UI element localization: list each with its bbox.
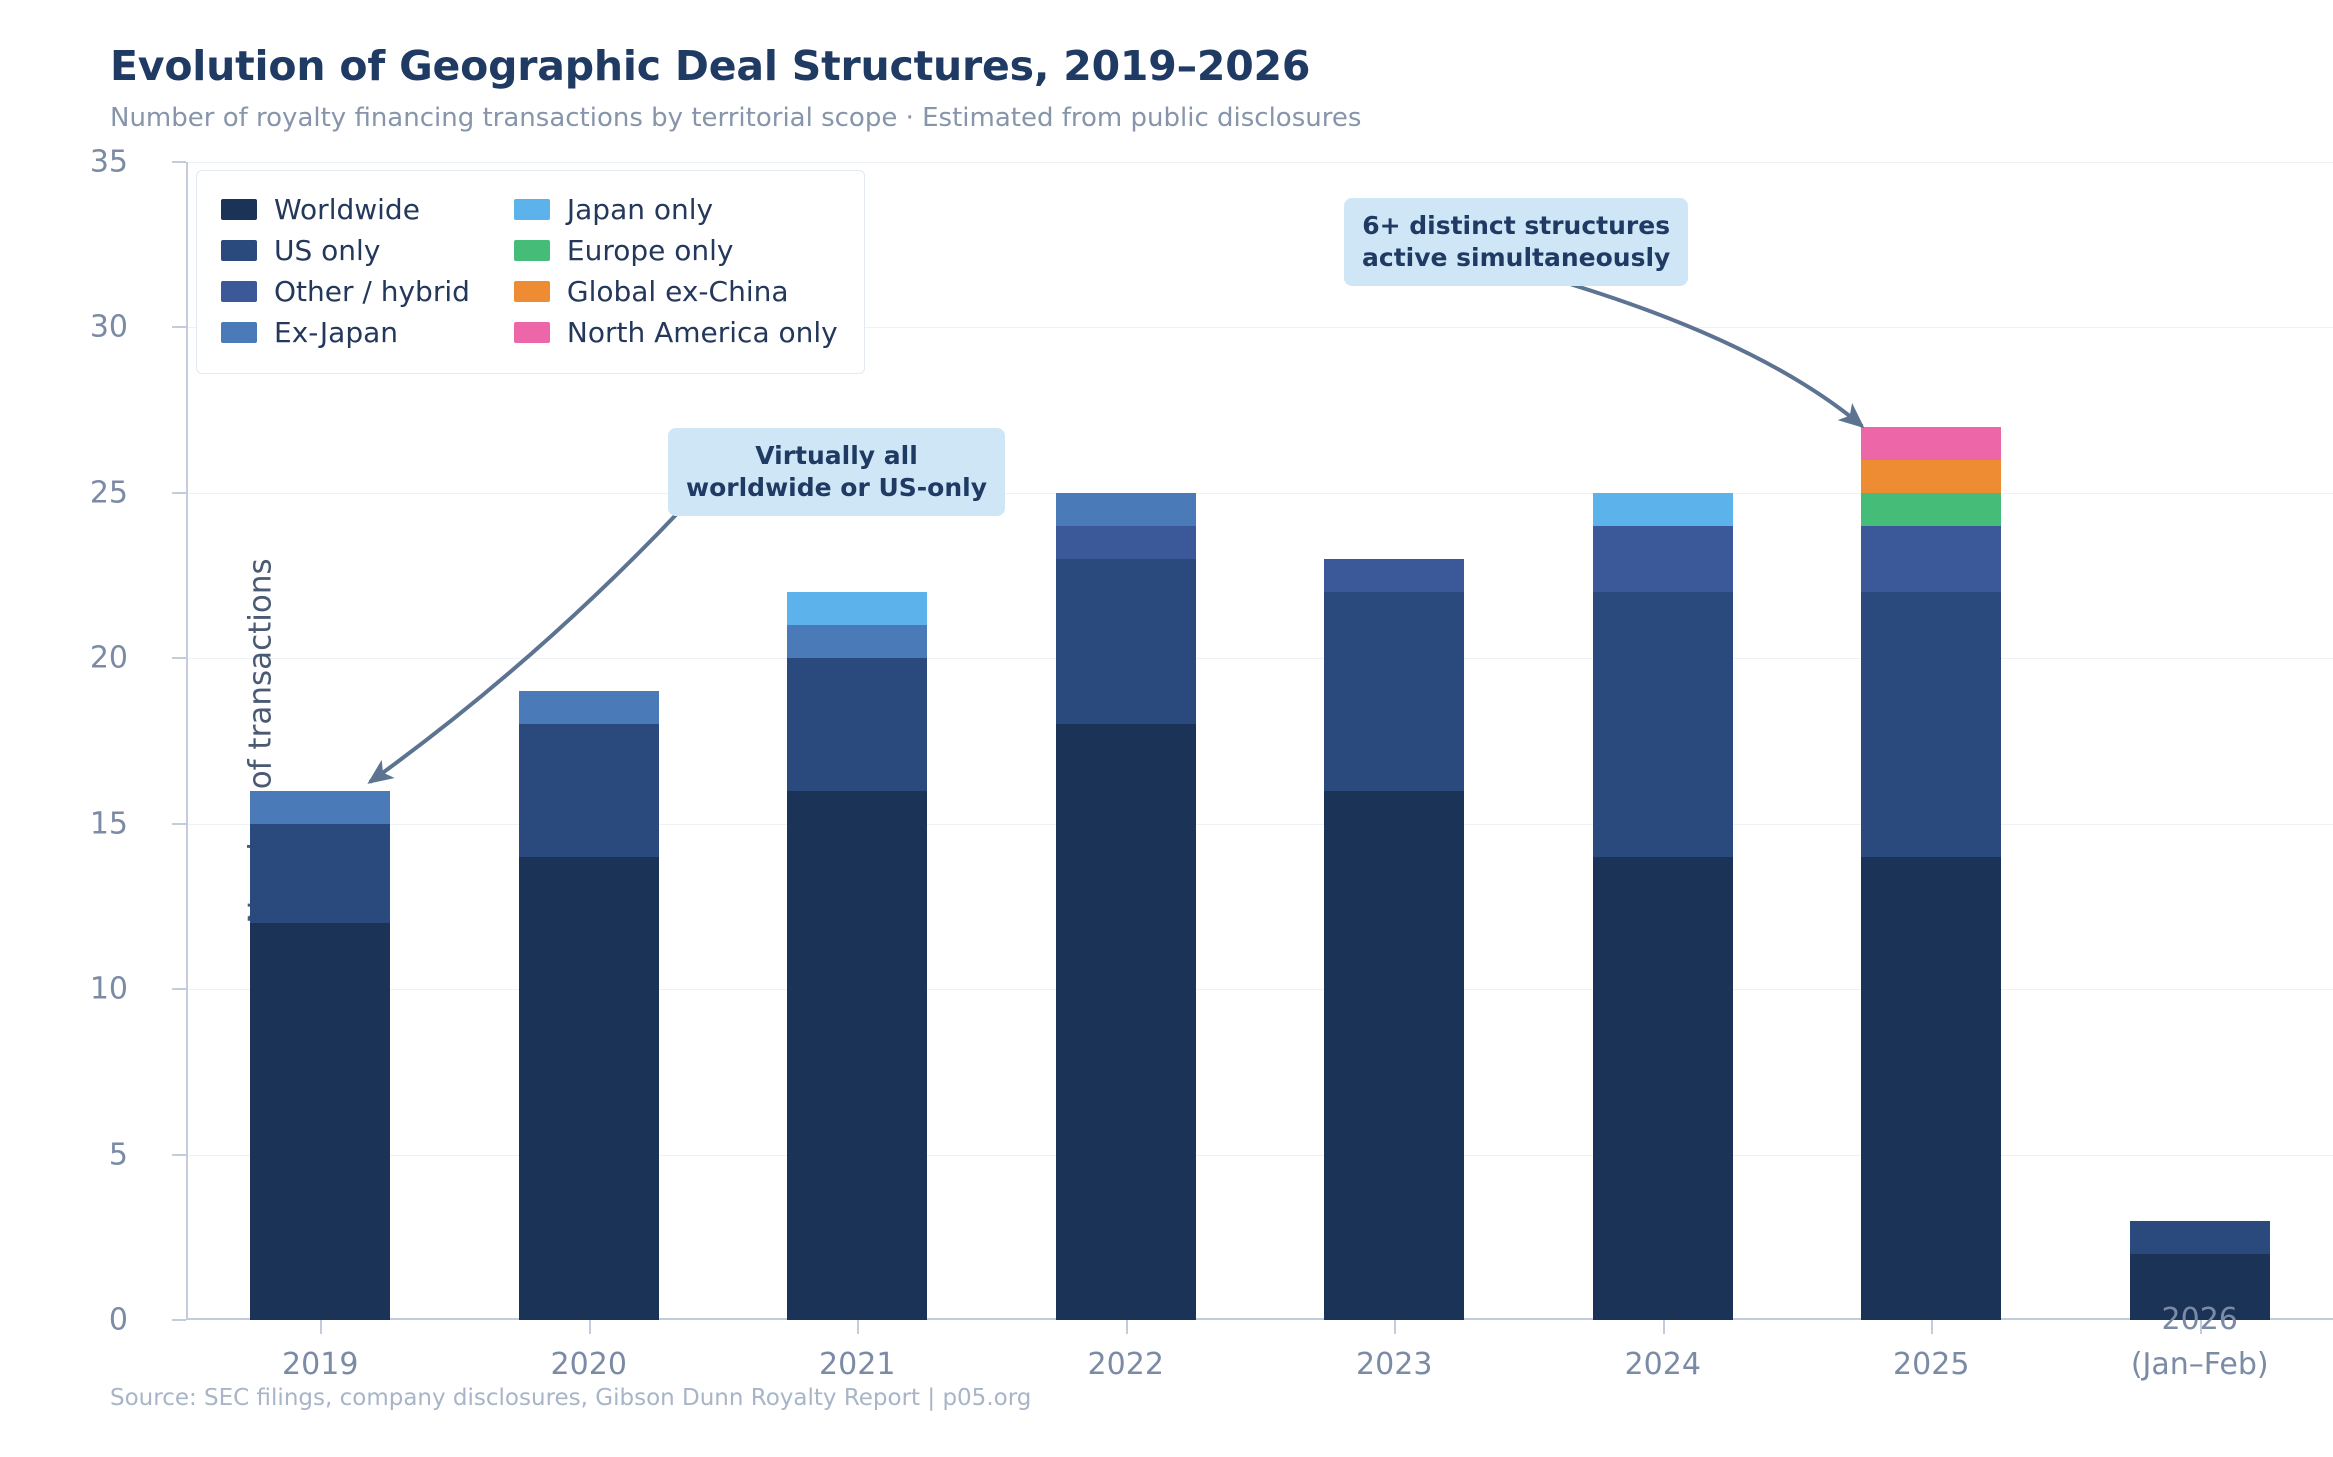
bar-group-2024[interactable]: 2024: [1593, 162, 1733, 1320]
annotation-callout-2025: 6+ distinct structures active simultaneo…: [1344, 198, 1688, 286]
bar-segment[interactable]: [1056, 559, 1196, 724]
x-axis-tick-label: 2022: [1088, 1347, 1164, 1382]
legend-swatch-icon: [221, 322, 257, 343]
legend-item-label: Global ex-China: [567, 275, 789, 308]
gridline: [186, 162, 2333, 163]
bar-stack: [1324, 559, 1464, 1320]
bar-segment[interactable]: [787, 658, 927, 790]
x-axis-tick-label: 2024: [1625, 1347, 1701, 1382]
x-axis-tick-label: 2023: [1356, 1347, 1432, 1382]
bar-segment[interactable]: [519, 691, 659, 724]
x-axis-tick-label: 2021: [819, 1347, 895, 1382]
y-axis-tick-mark: [172, 492, 186, 494]
y-axis-tick-label: 0: [8, 1303, 128, 1338]
bar-stack: [1593, 493, 1733, 1320]
y-axis-tick-mark: [172, 823, 186, 825]
bar-segment[interactable]: [787, 625, 927, 658]
x-axis-tick-label: 2025: [1893, 1347, 1969, 1382]
legend-item-ex-japan[interactable]: Ex-Japan: [221, 312, 470, 353]
legend-item-north-america-only[interactable]: North America only: [514, 312, 838, 353]
gridline: [186, 989, 2333, 990]
bar-segment[interactable]: [1593, 526, 1733, 592]
bar-segment[interactable]: [250, 824, 390, 923]
bar-stack: [519, 691, 659, 1320]
bar-segment[interactable]: [250, 923, 390, 1320]
bar-segment[interactable]: [250, 791, 390, 824]
gridline: [186, 658, 2333, 659]
y-axis-tick-label: 30: [8, 310, 128, 345]
legend-swatch-icon: [514, 281, 550, 302]
bar-group-2025[interactable]: 2025: [1861, 162, 2001, 1320]
legend-swatch-icon: [514, 199, 550, 220]
legend-item-label: Europe only: [567, 234, 734, 267]
y-axis-tick-mark: [172, 988, 186, 990]
y-axis-tick-label: 5: [8, 1137, 128, 1172]
bar-segment[interactable]: [787, 592, 927, 625]
x-axis-tick-mark: [1394, 1320, 1396, 1334]
y-axis-tick-mark: [172, 1319, 186, 1321]
x-axis-tick-mark: [857, 1320, 859, 1334]
legend-item-label: North America only: [567, 316, 838, 349]
y-axis-tick-label: 10: [8, 972, 128, 1007]
chart-root: Evolution of Geographic Deal Structures,…: [0, 0, 2333, 1457]
bar-segment[interactable]: [1056, 526, 1196, 559]
chart-subtitle: Number of royalty financing transactions…: [110, 103, 1361, 133]
legend-swatch-icon: [221, 281, 257, 302]
bar-segment[interactable]: [519, 724, 659, 856]
x-axis-tick-mark: [1931, 1320, 1933, 1334]
bar-stack: [250, 791, 390, 1320]
y-axis-tick-label: 25: [8, 475, 128, 510]
y-axis-tick-label: 20: [8, 641, 128, 676]
bar-segment[interactable]: [1861, 592, 2001, 857]
y-axis-tick-mark: [172, 657, 186, 659]
legend-item-worldwide[interactable]: Worldwide: [221, 189, 470, 230]
legend-item-other-hybrid[interactable]: Other / hybrid: [221, 271, 470, 312]
x-axis-tick-label: 2020: [551, 1347, 627, 1382]
legend-swatch-icon: [514, 240, 550, 261]
gridline: [186, 493, 2333, 494]
bar-segment[interactable]: [1056, 493, 1196, 526]
x-axis-tick-mark: [320, 1320, 322, 1334]
legend-item-label: Ex-Japan: [274, 316, 398, 349]
legend-item-japan-only[interactable]: Japan only: [514, 189, 838, 230]
y-axis-tick-mark: [172, 161, 186, 163]
legend-item-label: US only: [274, 234, 380, 267]
bar-segment[interactable]: [1056, 724, 1196, 1320]
bar-group-2023[interactable]: 2023: [1324, 162, 1464, 1320]
page-title: Evolution of Geographic Deal Structures,…: [110, 42, 1310, 90]
chart-legend[interactable]: WorldwideJapan onlyUS onlyEurope onlyOth…: [196, 170, 865, 374]
y-axis-tick-label: 35: [8, 145, 128, 180]
bar-segment[interactable]: [519, 857, 659, 1320]
bar-group-2022[interactable]: 2022: [1056, 162, 1196, 1320]
bar-segment[interactable]: [1593, 857, 1733, 1320]
legend-swatch-icon: [514, 322, 550, 343]
source-note: Source: SEC filings, company disclosures…: [110, 1385, 1031, 1411]
legend-swatch-icon: [221, 240, 257, 261]
x-axis-tick-label: 2026(Jan–Feb): [2131, 1302, 2269, 1382]
y-axis-line: [186, 162, 188, 1320]
bar-segment[interactable]: [1861, 460, 2001, 493]
bar-segment[interactable]: [1861, 857, 2001, 1320]
legend-item-label: Worldwide: [274, 193, 420, 226]
bar-segment[interactable]: [1861, 427, 2001, 460]
gridline: [186, 824, 2333, 825]
x-axis-line: [186, 1318, 2333, 1320]
x-axis-tick-mark: [1126, 1320, 1128, 1334]
bar-segment[interactable]: [1593, 592, 1733, 857]
bar-stack: [1861, 427, 2001, 1320]
x-axis-tick-sublabel: (Jan–Feb): [2131, 1347, 2269, 1382]
legend-item-global-ex-china[interactable]: Global ex-China: [514, 271, 838, 312]
annotation-callout-2019: Virtually all worldwide or US-only: [668, 428, 1005, 516]
bar-segment[interactable]: [1324, 791, 1464, 1320]
bar-segment[interactable]: [1593, 493, 1733, 526]
legend-item-europe-only[interactable]: Europe only: [514, 230, 838, 271]
bar-segment[interactable]: [1324, 559, 1464, 592]
y-axis-tick-mark: [172, 326, 186, 328]
bar-segment[interactable]: [787, 791, 927, 1320]
legend-swatch-icon: [221, 199, 257, 220]
legend-item-us-only[interactable]: US only: [221, 230, 470, 271]
gridline: [186, 1155, 2333, 1156]
bar-segment[interactable]: [1324, 592, 1464, 791]
bar-segment[interactable]: [1861, 493, 2001, 526]
bar-stack: [1056, 493, 1196, 1320]
legend-item-label: Other / hybrid: [274, 275, 470, 308]
legend-item-label: Japan only: [567, 193, 713, 226]
x-axis-tick-mark: [589, 1320, 591, 1334]
bar-group-2026[interactable]: 2026(Jan–Feb): [2130, 162, 2270, 1320]
y-axis-tick-label: 15: [8, 806, 128, 841]
x-axis-tick-label: 2019: [282, 1347, 358, 1382]
bar-stack: [787, 592, 927, 1320]
y-axis-tick-mark: [172, 1154, 186, 1156]
bar-segment[interactable]: [1861, 526, 2001, 592]
bar-segment[interactable]: [2130, 1221, 2270, 1254]
x-axis-tick-mark: [1663, 1320, 1665, 1334]
